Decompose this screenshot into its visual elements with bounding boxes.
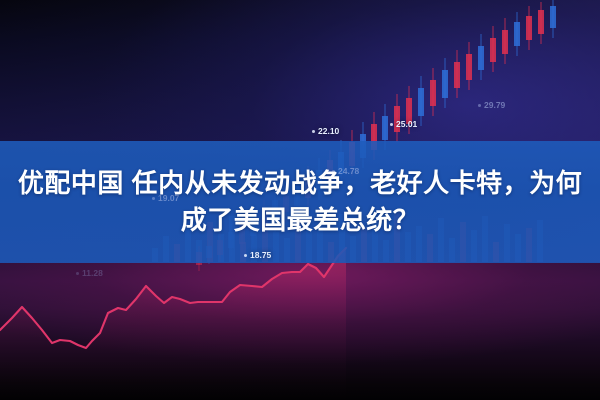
price-label-2210: 22.10 [312, 126, 339, 136]
price-label-text: 18.75 [250, 250, 271, 260]
price-label-2979: 29.79 [478, 100, 505, 110]
price-label-2478: 24.78 [332, 166, 359, 176]
price-marker-dot [478, 104, 481, 107]
price-label-1128: 11.28 [76, 268, 103, 278]
price-label-text: 29.79 [484, 100, 505, 110]
candle-body [538, 10, 544, 34]
candle-body [430, 80, 436, 106]
candle-body [442, 70, 448, 98]
candle-body [550, 6, 556, 28]
price-label-text: 11.28 [82, 268, 103, 278]
price-marker-dot [390, 123, 393, 126]
candle-body [418, 88, 424, 116]
line-chart-area-fill [0, 248, 346, 400]
candle-body [502, 30, 508, 54]
price-marker-dot [332, 170, 335, 173]
price-marker-dot [152, 197, 155, 200]
candle-body [382, 116, 388, 140]
candle-body [478, 46, 484, 70]
price-marker-dot [244, 254, 247, 257]
price-label-text: 19.07 [158, 193, 179, 203]
price-label-1907: 19.07 [152, 193, 179, 203]
poster-image: 22.1025.0124.7829.7919.0718.7511.28 优配中国… [0, 0, 600, 400]
price-label-text: 24.78 [338, 166, 359, 176]
price-marker-dot [312, 130, 315, 133]
candle-body [454, 62, 460, 88]
price-label-text: 25.01 [396, 119, 417, 129]
price-marker-dot [76, 272, 79, 275]
headline-banner-background [0, 141, 600, 263]
price-label-2501: 25.01 [390, 119, 417, 129]
candle-body [490, 38, 496, 62]
candle-body [466, 54, 472, 80]
candle-body [514, 22, 520, 46]
candle-body [526, 16, 532, 40]
price-label-1875: 18.75 [244, 250, 271, 260]
price-label-text: 22.10 [318, 126, 339, 136]
